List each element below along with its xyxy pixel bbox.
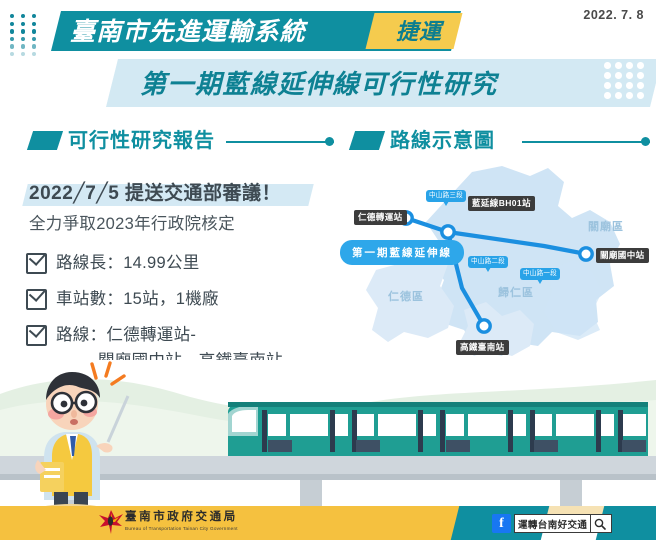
page-subtitle: 第一期藍線延伸線可行性研究 <box>140 68 560 100</box>
route-map: 仁德轉運站 藍延線BH01站 關廟國中站 高鐵臺南站 關廟區 仁德區 歸仁區 中… <box>352 160 648 365</box>
highlight-line: 2022╱7╱5 提送交通部審議！ <box>25 180 325 208</box>
district-label-guiren: 歸仁區 <box>498 284 534 300</box>
publish-date: 2022. 7. 8 <box>583 8 644 22</box>
train-graphic <box>228 402 648 456</box>
station-label-guanmiao-jh: 關廟國中站 <box>596 248 649 263</box>
station-label-rende-transfer: 仁德轉運站 <box>354 210 407 225</box>
list-item: 路線長：14.99公里 <box>26 250 326 280</box>
bureau-name-english: Bureau of Transportation Tainan City Gov… <box>125 525 238 532</box>
search-icon[interactable] <box>590 515 608 532</box>
section-marker-icon <box>349 131 385 150</box>
facebook-glyph: f <box>492 514 511 533</box>
illustration-scene <box>0 360 656 515</box>
section-rule <box>522 137 650 147</box>
section-marker-icon <box>27 131 63 150</box>
system-title: 臺南市先進運輸系統 <box>70 18 390 46</box>
district-label-guanmiao: 關廟區 <box>588 218 624 234</box>
scene-graphic <box>0 360 656 515</box>
map-section-header: 路線示意圖 <box>352 128 652 154</box>
report-section-header: 可行性研究報告 <box>30 128 330 154</box>
map-section-title: 路線示意圖 <box>390 128 495 154</box>
checkbox-checked-icon <box>26 253 47 274</box>
highlight-text: 2022╱7╱5 提送交通部審議！ <box>29 180 281 208</box>
footer-yellow-band <box>0 506 514 540</box>
metro-badge-label: 捷運 <box>382 19 456 45</box>
infographic-root: 2022. 7. 8 臺南市先進運輸系統 捷運 第一期藍線延伸線可行性研究 可行… <box>0 0 656 552</box>
station-label-hsr-tainan: 高鐵臺南站 <box>456 340 509 355</box>
bureau-name: 臺南市政府交通局 <box>125 510 238 524</box>
facebook-search-box[interactable]: 運轉台南好交通 <box>514 514 612 533</box>
line-name-badge: 第一期藍線延伸線 <box>340 240 464 265</box>
report-section-title: 可行性研究報告 <box>68 128 215 154</box>
decorative-dot-grid-left <box>10 14 44 58</box>
bullet-text: 車站數：15站，1機廠 <box>56 286 219 312</box>
facebook-page-name: 運轉台南好交通 <box>518 517 587 531</box>
bureau-logo-icon <box>98 508 124 536</box>
bullet-text: 路線：仁德轉運站- <box>56 322 196 348</box>
checkbox-checked-icon <box>26 289 47 310</box>
road-label-zhongshan-sec2: 中山路二段 <box>468 256 508 268</box>
bullet-text: 路線長：14.99公里 <box>56 250 200 276</box>
decorative-dot-grid-right <box>604 62 650 104</box>
footer-white-strip <box>0 540 656 552</box>
facebook-icon[interactable]: f <box>492 514 511 533</box>
road-label-zhongshan-sec1: 中山路一段 <box>520 268 560 280</box>
sub-line-text: 全力爭取2023年行政院核定 <box>29 212 235 236</box>
checkbox-checked-icon <box>26 325 47 346</box>
district-label-rende: 仁德區 <box>388 288 424 304</box>
section-rule <box>226 137 334 147</box>
list-item: 車站數：15站，1機廠 <box>26 286 326 316</box>
station-label-bh01: 藍延線BH01站 <box>468 196 535 211</box>
facebook-badge[interactable]: f 運轉台南好交通 <box>492 514 612 533</box>
road-label-zhongshan-sec3: 中山路三段 <box>426 190 466 202</box>
